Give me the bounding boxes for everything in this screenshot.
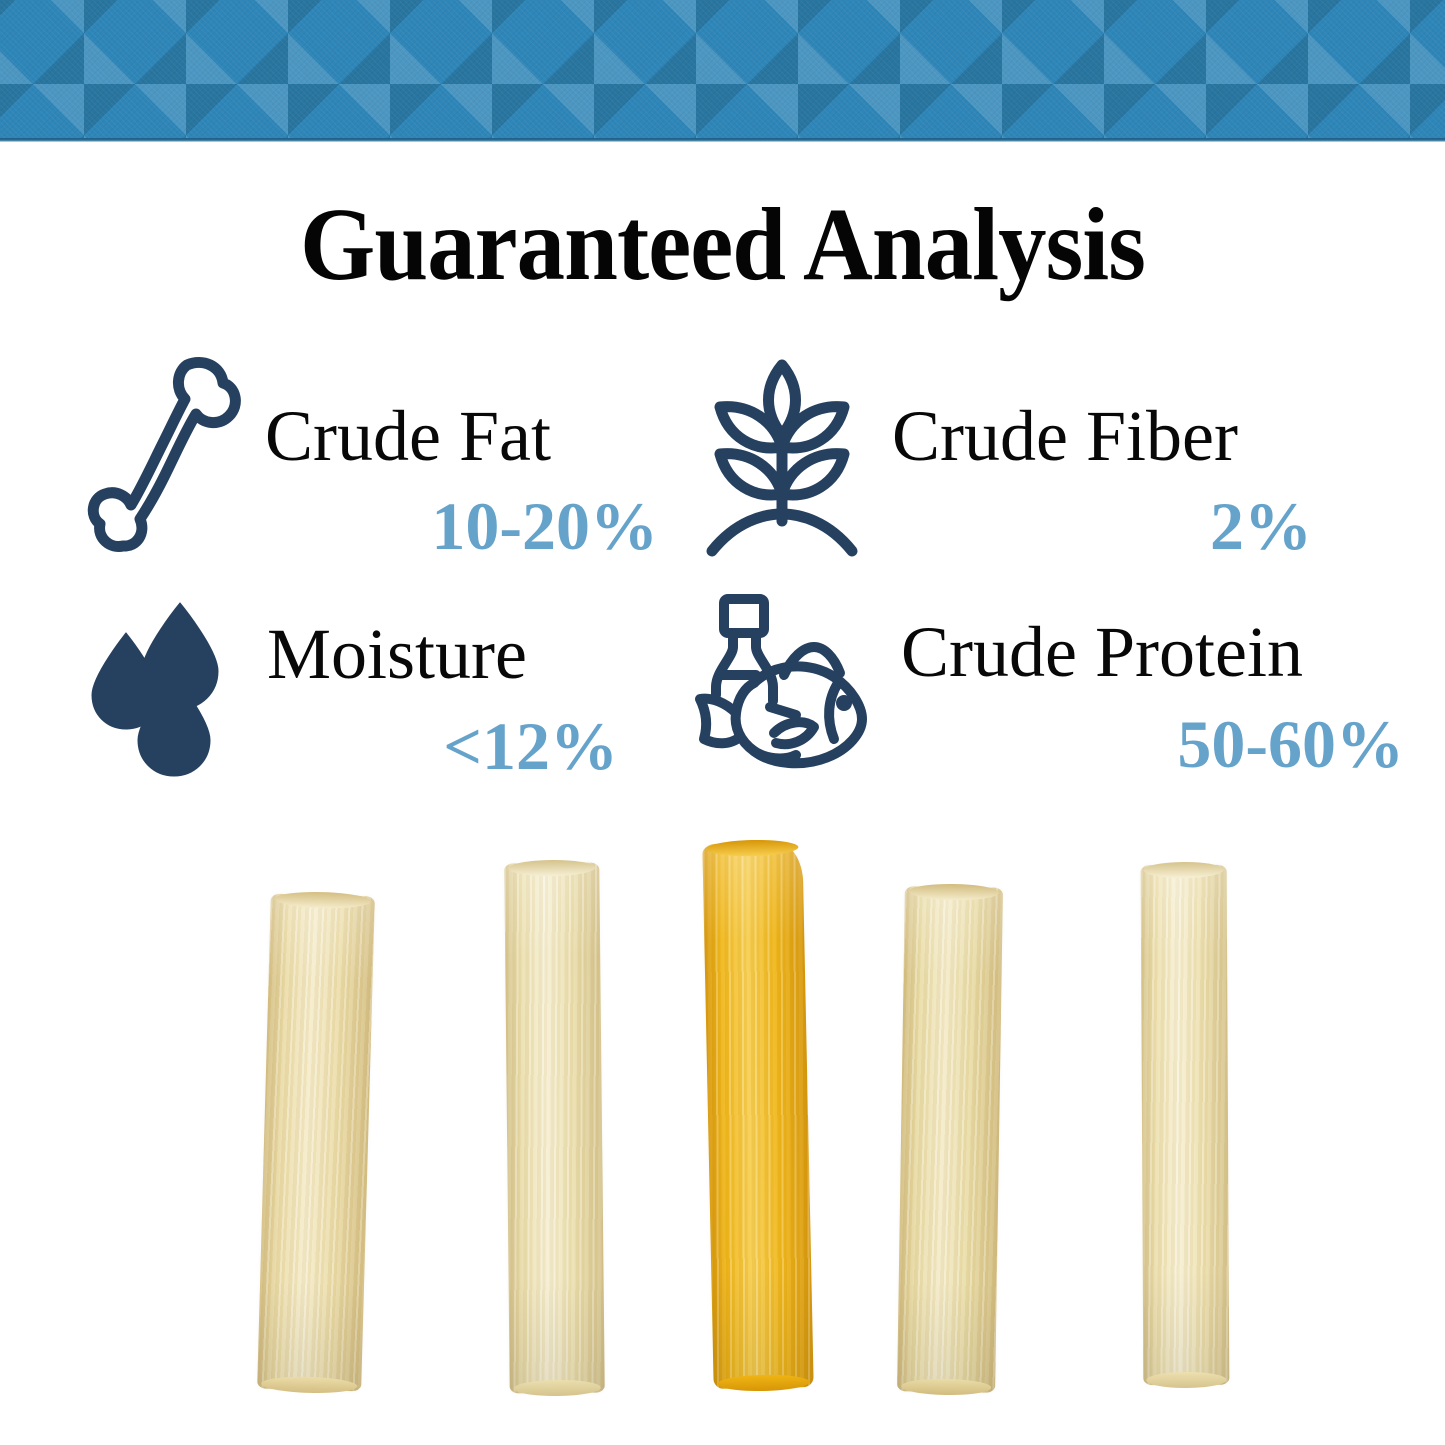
bone-icon [90, 353, 240, 553]
fish-oil-icon [692, 591, 877, 781]
wheat-plant-icon [702, 351, 862, 561]
moisture-value: <12% [267, 709, 680, 783]
crude-fiber-value: 2% [892, 489, 1440, 563]
chew-stick-shading [702, 842, 813, 1389]
page-title: Guaranteed Analysis [51, 190, 1395, 300]
analysis-item-crude-fat: Crude Fat 10-20% [60, 345, 680, 585]
chew-stick-shading [504, 863, 605, 1394]
crude-protein-value: 50-60% [901, 707, 1440, 781]
water-droplets-icon [92, 597, 242, 777]
crude-fiber-text-block: Crude Fiber 2% [892, 397, 1440, 563]
crude-fat-value: 10-20% [265, 489, 680, 563]
chew-stick-shading [1141, 865, 1230, 1385]
crude-fat-label: Crude Fat [265, 397, 680, 475]
analysis-item-crude-protein: Crude Protein 50-60% [680, 585, 1440, 810]
chew-stick [504, 863, 605, 1394]
header-bottom-rule [0, 138, 1445, 142]
chew-stick [702, 842, 813, 1389]
chew-stick [897, 886, 1003, 1392]
chew-stick-cap-bottom [901, 1378, 991, 1395]
header-banner [0, 0, 1445, 142]
chew-stick-shading [897, 886, 1003, 1392]
chew-stick-cap-bottom [513, 1380, 601, 1397]
gingham-pattern [0, 0, 1445, 142]
gingham-weave-texture [0, 0, 1445, 142]
product-photo-strip [0, 835, 1445, 1445]
crude-fiber-label: Crude Fiber [892, 397, 1440, 475]
chew-stick-shading [257, 894, 375, 1392]
analysis-item-crude-fiber: Crude Fiber 2% [680, 345, 1440, 585]
moisture-label: Moisture [267, 615, 680, 693]
guaranteed-analysis-grid: Crude Fat 10-20% C [0, 345, 1445, 810]
chew-stick [257, 894, 375, 1392]
chew-stick-cap-bottom [1147, 1372, 1226, 1388]
chew-stick [1141, 865, 1230, 1385]
crude-fat-text-block: Crude Fat 10-20% [265, 397, 680, 563]
crude-protein-label: Crude Protein [901, 613, 1440, 691]
moisture-text-block: Moisture <12% [267, 615, 680, 783]
analysis-item-moisture: Moisture <12% [60, 585, 680, 810]
crude-protein-text-block: Crude Protein 50-60% [901, 613, 1440, 781]
